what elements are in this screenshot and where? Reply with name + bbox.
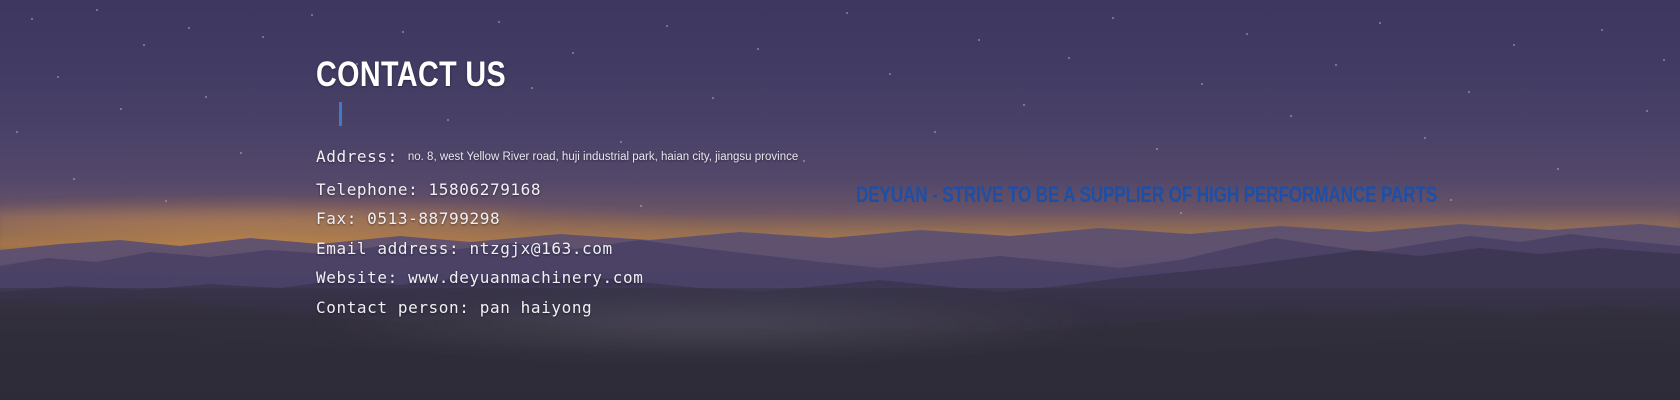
page-title: CONTACT US (316, 57, 506, 92)
address-label: Address: (316, 147, 398, 166)
contact-row-telephone: Telephone: 15806279168 (316, 175, 798, 205)
company-slogan: DEYUAN - STRIVE TO BE A SUPPLIER OF HIGH… (856, 184, 1437, 206)
contact-details-list: Address:no. 8, west Yellow River road, h… (316, 142, 798, 322)
contact-row-fax: Fax: 0513-88799298 (316, 204, 798, 234)
title-accent-bar (339, 102, 342, 126)
contact-row-address: Address:no. 8, west Yellow River road, h… (316, 142, 798, 175)
contact-row-contact-person: Contact person: pan haiyong (316, 293, 798, 323)
contact-row-website: Website: www.deyuanmachinery.com (316, 263, 798, 293)
banner-content: CONTACT US Address:no. 8, west Yellow Ri… (0, 0, 1680, 400)
contact-row-email: Email address: ntzgjx@163.com (316, 234, 798, 264)
address-value: no. 8, west Yellow River road, huji indu… (398, 151, 798, 163)
contact-banner: CONTACT US Address:no. 8, west Yellow Ri… (0, 0, 1680, 400)
